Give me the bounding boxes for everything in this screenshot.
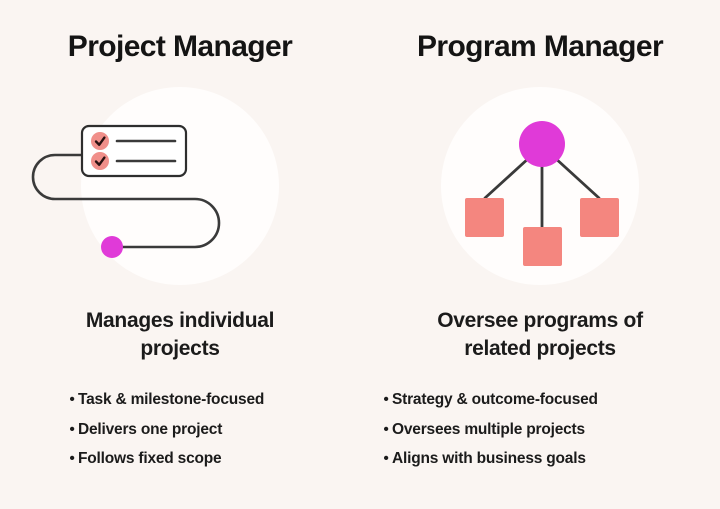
subheading-program-manager: Oversee programs of related projects <box>360 307 720 362</box>
list-item-label: Oversees multiple projects <box>392 422 585 438</box>
bullet-marker-icon: • <box>380 451 392 466</box>
bullet-marker-icon: • <box>66 451 78 466</box>
bullet-marker-icon: • <box>380 392 392 407</box>
list-item-label: Delivers one project <box>78 422 222 438</box>
child-node-left <box>465 198 504 237</box>
illustration-org-chart <box>360 85 720 295</box>
list-item-label: Aligns with business goals <box>392 451 586 467</box>
bullet-marker-icon: • <box>66 392 78 407</box>
list-item-label: Follows fixed scope <box>78 451 221 467</box>
list-item: • Aligns with business goals <box>380 451 720 467</box>
comparison-infographic: Project Manager Manages indi <box>0 0 720 509</box>
page-title-project-manager: Project Manager <box>0 30 360 64</box>
child-node-right <box>580 198 619 237</box>
connector-right <box>554 157 599 198</box>
check-item-2 <box>91 152 109 170</box>
bullet-list-program-manager: • Strategy & outcome-focused • Oversees … <box>360 392 720 481</box>
root-node-circle <box>519 121 565 167</box>
bullet-marker-icon: • <box>380 422 392 437</box>
bullet-marker-icon: • <box>66 422 78 437</box>
list-item: • Oversees multiple projects <box>380 422 720 438</box>
child-node-center <box>523 227 562 266</box>
page-title-program-manager: Program Manager <box>360 30 720 64</box>
path-endpoint-dot <box>101 236 123 258</box>
illustration-winding-path-checklist <box>0 85 360 295</box>
list-item-label: Strategy & outcome-focused <box>392 392 598 408</box>
column-project-manager: Project Manager Manages indi <box>0 0 360 509</box>
list-item-label: Task & milestone-focused <box>78 392 264 408</box>
connector-left <box>485 157 530 198</box>
check-item-1 <box>91 132 109 150</box>
subheading-project-manager: Manages individual projects <box>0 307 360 362</box>
column-program-manager: Program Manager Oversee programs of rela… <box>360 0 720 509</box>
list-item: • Strategy & outcome-focused <box>380 392 720 408</box>
